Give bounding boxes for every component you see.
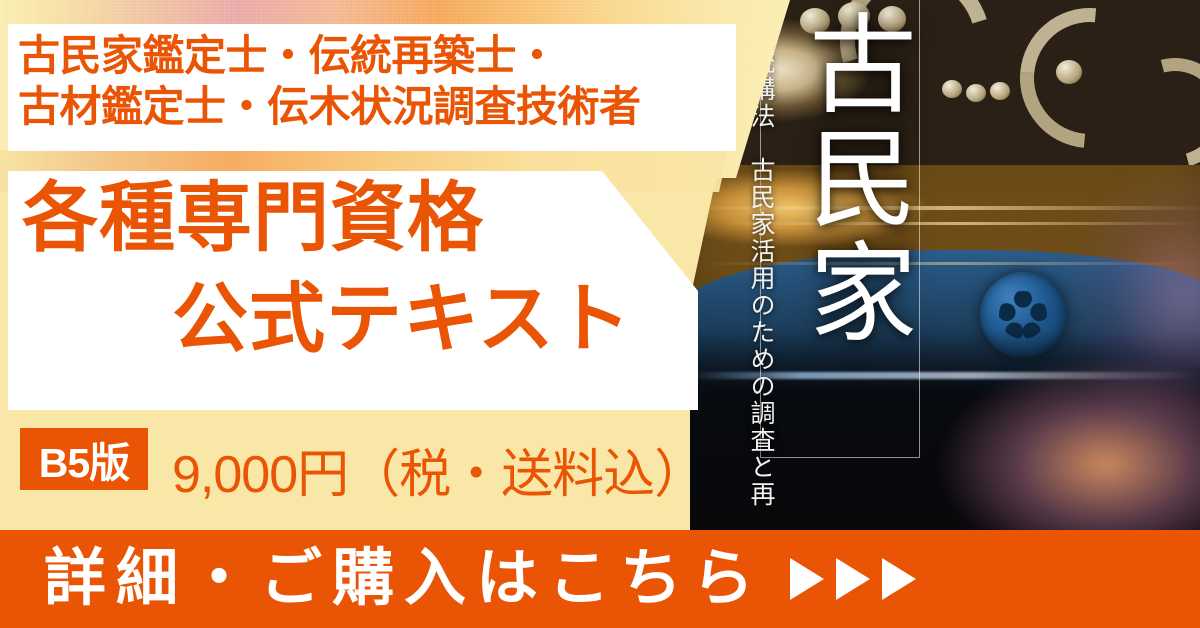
triangle-right-icon — [882, 558, 916, 600]
cover-title: 古民家 — [762, 8, 918, 350]
cover-lens-flare — [940, 360, 1200, 540]
price-text: 9,000円（税・送料込） — [172, 432, 705, 507]
cta-bar[interactable]: 詳細・ご購入はこちら — [0, 530, 1200, 628]
promo-banner[interactable]: 古民家 伝統構法 古民家活用のための調査と再生の 古民家鑑定士・伝統再築士・ 古… — [0, 0, 1200, 628]
title-line-1: 各種専門資格 — [22, 181, 484, 257]
triangle-right-icon — [790, 558, 824, 600]
headline-line-2: 古材鑑定士・伝木状況調査技術者 — [18, 81, 718, 132]
title-line-2: 公式テキスト — [172, 282, 632, 358]
book-cover-image: 古民家 伝統構法 古民家活用のための調査と再生の — [690, 0, 1200, 540]
cta-arrow-group — [790, 558, 916, 600]
headline-line-1: 古民家鑑定士・伝統再築士・ — [18, 30, 718, 81]
wood-bead-icon — [942, 80, 962, 98]
wood-bead-icon — [990, 82, 1010, 100]
format-badge: B5版 — [20, 428, 148, 490]
wood-bead-icon — [1056, 60, 1082, 84]
triangle-right-icon — [836, 558, 870, 600]
cta-label: 詳細・ご購入はこちら — [44, 548, 764, 610]
wood-bead-icon — [966, 84, 986, 102]
headline-text: 古民家鑑定士・伝統再築士・ 古材鑑定士・伝木状況調査技術者 — [18, 30, 718, 132]
